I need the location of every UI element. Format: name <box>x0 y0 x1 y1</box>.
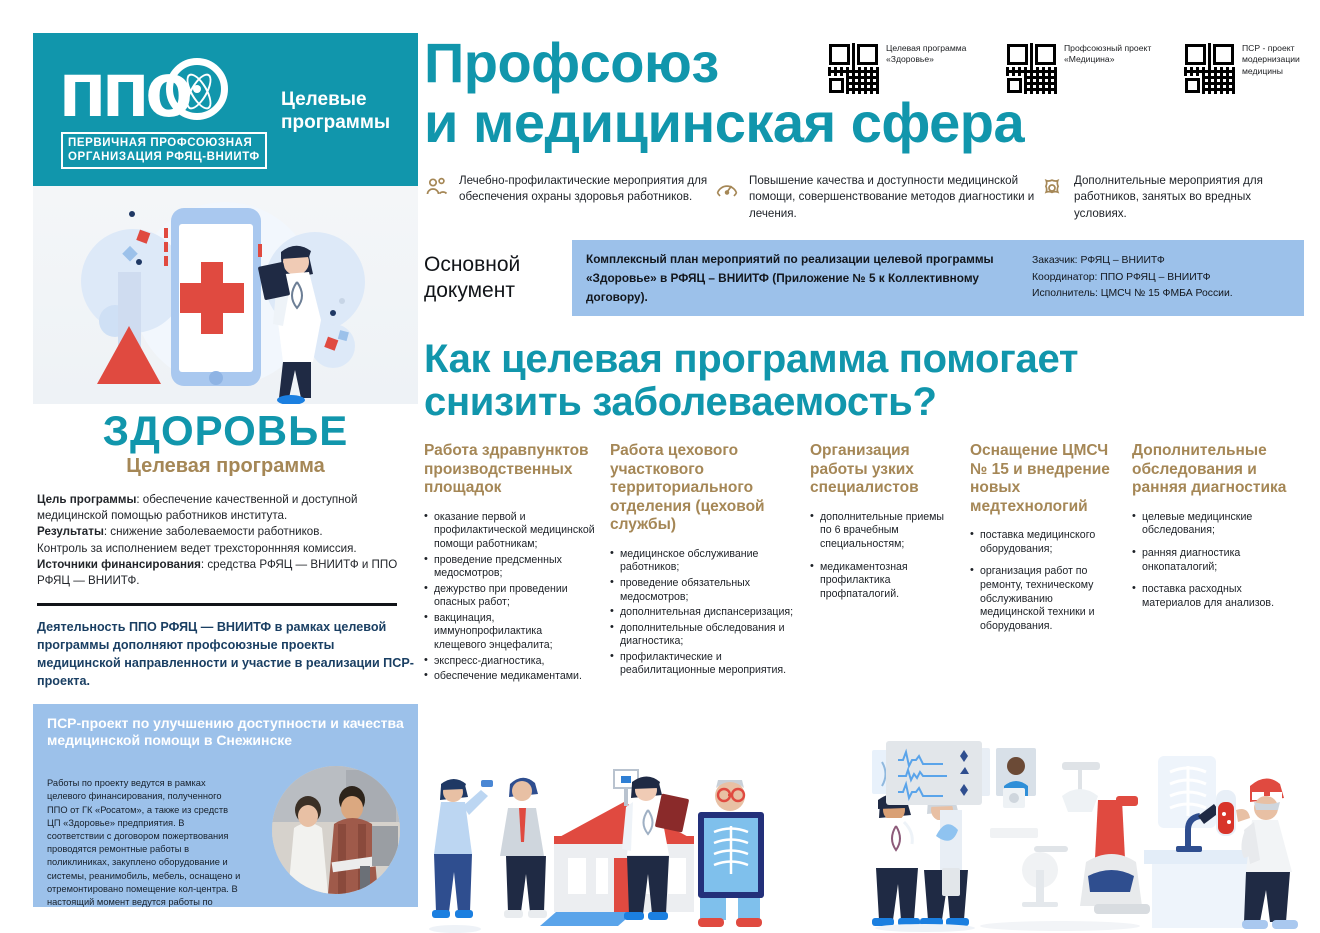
page-title-line2: и медицинская сфера <box>424 91 1024 154</box>
people-icon <box>424 175 450 201</box>
qr-code-list: Целевая программа«Здоровье» Профсоюзный … <box>828 43 1320 94</box>
program-column-heading: Работа цехового участкового территориаль… <box>610 442 796 535</box>
program-info: Цель программы: обеспечение качественной… <box>33 480 418 589</box>
main-document-text: Комплексный план мероприятий по реализац… <box>586 250 1016 307</box>
divider <box>37 603 397 606</box>
feature-list: Лечебно-профилактические мероприятия для… <box>424 173 1304 222</box>
logo-band: ппо ПЕРВИЧНАЯ ПРОФСОЮЗНАЯ ОРГАНИЗАЦИЯ РФ… <box>33 33 418 186</box>
program-list-item: дополнительные приемы по 6 врачебным спе… <box>810 511 956 552</box>
atom-nucleus-icon <box>193 85 201 93</box>
program-list-item: ранняя диагностика онкопаталогий; <box>1132 547 1290 574</box>
section-heading-line1: Как целевая программа помогает <box>424 337 1078 381</box>
bottom-illustration-strip <box>0 740 1320 933</box>
infographic-poster: ппо ПЕРВИЧНАЯ ПРОФСОЮЗНАЯ ОРГАНИЗАЦИЯ РФ… <box>0 0 1320 933</box>
brand-block: ЗДОРОВЬЕ Целевая программа <box>33 404 418 480</box>
gauge-icon <box>714 175 740 201</box>
program-list-item: поставка медицинского оборудования; <box>970 529 1118 556</box>
main-document-meta-line: Исполнитель: ЦМСЧ № 15 ФМБА России. <box>1032 286 1290 303</box>
program-column-list: медицинское обслуживание работников;пров… <box>610 548 796 678</box>
brand-subtitle: Целевая программа <box>33 452 418 480</box>
logo-tagline: Целевыепрограммы <box>281 88 390 134</box>
feature-item: Дополнительные мероприятия для работнико… <box>1039 173 1284 222</box>
page-title-line1: Профсоюз <box>424 31 719 94</box>
ppo-logo-mark: ппо <box>59 50 234 132</box>
section-heading-line2: снизить заболеваемость? <box>424 380 937 424</box>
atom-orbit-icon <box>179 71 215 107</box>
qr-code-label: ПСР - проектмодернизациимедицины <box>1242 43 1320 77</box>
qr-code-icon[interactable] <box>1184 43 1235 94</box>
program-list-item: проведение обязательных медосмотров; <box>610 577 796 604</box>
gear-icon <box>1039 175 1065 201</box>
sidebar-illustration <box>33 186 418 404</box>
program-list-item: дежурство при проведении опасных работ; <box>424 583 596 610</box>
ppo-logo: ппо ПЕРВИЧНАЯ ПРОФСОЮЗНАЯ ОРГАНИЗАЦИЯ РФ… <box>59 50 234 170</box>
program-column: Оснащение ЦМСЧ № 15 и внедрение новых ме… <box>970 442 1132 686</box>
feature-item: Лечебно-профилактические мероприятия для… <box>424 173 714 222</box>
program-column-heading: Дополнительные обследования и ранняя диа… <box>1132 442 1290 498</box>
main-document-row: Основнойдокумент Комплексный план меропр… <box>424 240 1304 316</box>
program-column-heading: Работа здравпунктов производственных пло… <box>424 442 596 498</box>
qr-code-icon[interactable] <box>1006 43 1057 94</box>
program-column-list: поставка медицинского оборудования;орган… <box>970 529 1118 633</box>
qr-code-item[interactable]: Профсоюзный проект«Медицина» <box>1006 43 1162 94</box>
main-document-label: Основнойдокумент <box>424 252 572 304</box>
program-column-heading: Организация работы узких специалистов <box>810 442 956 498</box>
program-info-line: Источники финансирования: средства РФЯЦ … <box>37 557 414 589</box>
sidebar-note: Деятельность ППО РФЯЦ — ВНИИТФ в рамках … <box>33 618 418 690</box>
program-info-line: Результаты: снижение заболеваемости рабо… <box>37 524 414 540</box>
program-columns: Работа здравпунктов производственных пло… <box>424 442 1304 686</box>
program-column-list: целевые медицинские обследования;ранняя … <box>1132 511 1290 611</box>
main-document-meta: Заказчик: РФЯЦ – ВНИИТФ Координатор: ППО… <box>1016 253 1290 303</box>
program-list-item: дополнительные обследования и диагностик… <box>610 622 796 649</box>
program-list-item: поставка расходных материалов для анализ… <box>1132 583 1290 610</box>
program-column-heading: Оснащение ЦМСЧ № 15 и внедрение новых ме… <box>970 442 1118 516</box>
qr-code-icon[interactable] <box>828 43 879 94</box>
program-list-item: медицинское обслуживание работников; <box>610 548 796 575</box>
qr-code-label: Целевая программа«Здоровье» <box>886 43 984 66</box>
qr-code-item[interactable]: Целевая программа«Здоровье» <box>828 43 984 94</box>
program-list-item: организация работ по ремонту, техническо… <box>970 565 1118 633</box>
program-column-list: оказание первой и профилактической медиц… <box>424 511 596 684</box>
program-list-item: профилактические и реабилитационные меро… <box>610 651 796 678</box>
main-document-meta-line: Заказчик: РФЯЦ – ВНИИТФ <box>1032 253 1290 270</box>
program-list-item: целевые медицинские обследования; <box>1132 511 1290 538</box>
main-document-box: Комплексный план мероприятий по реализац… <box>572 240 1304 316</box>
ppo-logo-subtitle: ПЕРВИЧНАЯ ПРОФСОЮЗНАЯ ОРГАНИЗАЦИЯ РФЯЦ-В… <box>61 132 267 169</box>
program-list-item: оказание первой и профилактической медиц… <box>424 511 596 552</box>
program-list-item: экспресс-диагностика, <box>424 655 596 669</box>
program-column-list: дополнительные приемы по 6 врачебным спе… <box>810 511 956 602</box>
section-heading: Как целевая программа помогает снизить з… <box>424 338 1254 424</box>
main-document-meta-line: Координатор: ППО РФЯЦ – ВНИИТФ <box>1032 270 1290 287</box>
program-list-item: проведение предсменных медосмотров; <box>424 554 596 581</box>
feature-text: Лечебно-профилактические мероприятия для… <box>459 173 714 206</box>
qr-code-label: Профсоюзный проект«Медицина» <box>1064 43 1162 66</box>
brand-title: ЗДОРОВЬЕ <box>33 408 418 454</box>
qr-code-item[interactable]: ПСР - проектмодернизациимедицины <box>1184 43 1320 94</box>
program-list-item: дополнительная диспансеризация; <box>610 606 796 620</box>
program-column: Дополнительные обследования и ранняя диа… <box>1132 442 1304 686</box>
program-list-item: вакцинация, иммунопрофилактика клещевого… <box>424 612 596 653</box>
program-list-item: обеспечение медикаментами. <box>424 670 596 684</box>
feature-text: Дополнительные мероприятия для работнико… <box>1074 173 1284 222</box>
main-content: Профсоюз и медицинская сфера Целевая про… <box>424 33 1304 686</box>
ppo-logo-subtitle-line2: ОРГАНИЗАЦИЯ РФЯЦ-ВНИИТФ <box>68 150 260 164</box>
program-info-line: Контроль за исполнением ведет трехсторон… <box>37 541 414 557</box>
feature-text: Повышение качества и доступности медицин… <box>749 173 1039 222</box>
program-info-line: Цель программы: обеспечение качественной… <box>37 492 414 524</box>
program-column: Работа цехового участкового территориаль… <box>610 442 810 686</box>
program-column: Работа здравпунктов производственных пло… <box>424 442 610 686</box>
program-list-item: медикаментозная профилактика профпаталог… <box>810 561 956 602</box>
feature-item: Повышение качества и доступности медицин… <box>714 173 1039 222</box>
lab-diagnostics-illustration <box>1144 756 1298 929</box>
program-column: Организация работы узких специалистов до… <box>810 442 970 686</box>
ppo-logo-subtitle-line1: ПЕРВИЧНАЯ ПРОФСОЮЗНАЯ <box>68 136 260 150</box>
medical-app-illustration <box>33 186 418 404</box>
